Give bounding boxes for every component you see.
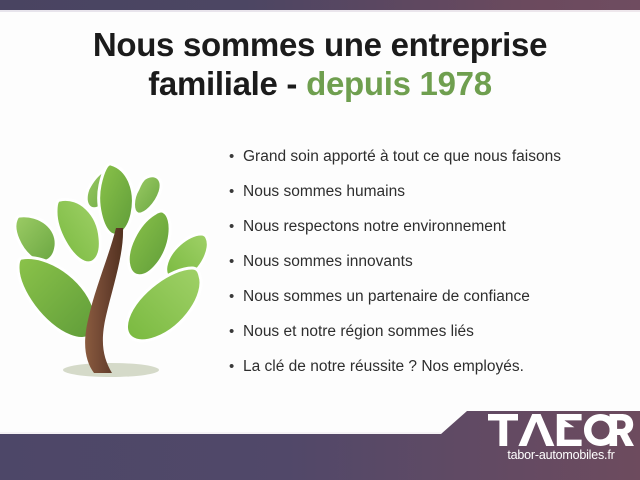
list-item: • La clé de notre réussite ? Nos employé… [229, 358, 629, 393]
list-item-label: Nous sommes un partenaire de confiance [243, 288, 530, 305]
page-title-line-2-accent: depuis 1978 [306, 65, 492, 102]
top-strip-hairline [0, 10, 640, 12]
list-item: • Nous respectons notre environnement [229, 218, 629, 253]
bullet-marker-icon: • [229, 184, 243, 199]
list-item-label: Nous sommes innovants [243, 253, 413, 270]
list-item: • Nous sommes innovants [229, 253, 629, 288]
list-item: • Nous sommes un partenaire de confiance [229, 288, 629, 323]
page-title: Nous sommes une entreprise familiale -de… [0, 26, 640, 104]
tabor-logo-icon [486, 414, 636, 447]
page-title-line-2-black: familiale - [148, 65, 297, 102]
list-item-label: La clé de notre réussite ? Nos employés. [243, 358, 524, 375]
page-title-line-1: Nous sommes une entreprise [0, 26, 640, 65]
slide-canvas: Nous sommes une entreprise familiale -de… [0, 0, 640, 480]
tree-illustration [8, 142, 218, 387]
bullet-marker-icon: • [229, 254, 243, 269]
list-item: • Nous sommes humains [229, 183, 629, 218]
list-item-label: Nous sommes humains [243, 183, 405, 200]
brand-website-url: tabor-automobiles.fr [486, 448, 636, 462]
value-proposition-list: • Grand soin apporté à tout ce que nous … [229, 148, 629, 393]
bullet-marker-icon: • [229, 289, 243, 304]
list-item: • Grand soin apporté à tout ce que nous … [229, 148, 629, 183]
bullet-marker-icon: • [229, 324, 243, 339]
top-accent-strip [0, 0, 640, 10]
page-title-line-2: familiale -depuis 1978 [0, 65, 640, 104]
list-item-label: Nous et notre région sommes liés [243, 323, 474, 340]
bullet-marker-icon: • [229, 219, 243, 234]
bullet-marker-icon: • [229, 359, 243, 374]
brand-lockup: tabor-automobiles.fr [486, 414, 636, 462]
bullet-marker-icon: • [229, 149, 243, 164]
list-item-label: Grand soin apporté à tout ce que nous fa… [243, 148, 561, 165]
list-item-label: Nous respectons notre environnement [243, 218, 506, 235]
list-item: • Nous et notre région sommes liés [229, 323, 629, 358]
tree-shadow [63, 363, 159, 377]
